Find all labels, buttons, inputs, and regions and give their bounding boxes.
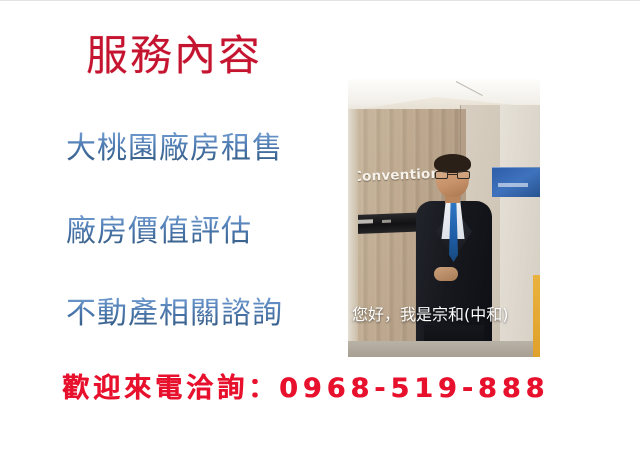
eyeglasses — [435, 171, 470, 179]
ceiling-seam — [455, 81, 482, 96]
clasped-hands — [434, 267, 458, 281]
cta-label: 歡迎來電洽詢： — [62, 373, 279, 404]
glasses-bridge — [448, 174, 457, 175]
service-item-valuation: 廠房價值評估 — [66, 215, 252, 248]
necktie — [449, 202, 458, 262]
yellow-accent-strip — [533, 275, 540, 357]
service-item-factory-rental: 大桃園廠房租售 — [66, 132, 283, 165]
glass-highlight-left — [351, 219, 373, 224]
cta-phone-number: 0968-519-888 — [279, 373, 549, 404]
lens-left — [435, 171, 448, 179]
presentation-slide: 服務內容 大桃園廠房租售 廠房價值評估 不動產相關諮詢 Convention C… — [0, 0, 640, 451]
call-to-action: 歡迎來電洽詢：0968-519-888 — [62, 374, 549, 404]
photo-scene: Convention Ce — [348, 79, 540, 357]
slide-title: 服務內容 — [86, 34, 262, 78]
agent-photo: Convention Ce — [348, 79, 540, 357]
person-figure — [406, 157, 502, 357]
floor-baseboard — [348, 341, 540, 357]
lens-right — [457, 171, 470, 179]
service-item-consulting: 不動產相關諮詢 — [66, 297, 283, 330]
glass-highlight-right — [382, 220, 391, 223]
